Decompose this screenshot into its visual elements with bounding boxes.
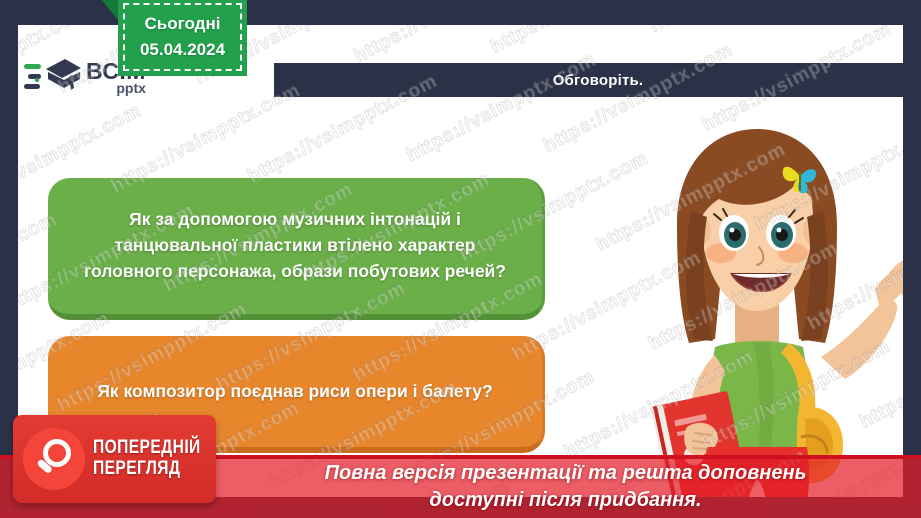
date-badge: Сьогодні 05.04.2024 [118,0,247,76]
preview-badge-line-1: ПОПЕРЕДНІЙ [93,438,201,459]
preview-badge-line-2: ПЕРЕГЛЯД [93,459,201,480]
watermark-text: https://vsimpptx.com [350,25,546,67]
watermark-text: https://vsimpptx.com [646,25,842,37]
purchase-notice-line-2: доступні після придбання. [325,487,807,514]
graduation-cap-icon [24,55,82,99]
slide-frame: Як за допомогою музичних інтонацій і тан… [0,0,921,518]
question-box-1: Як за допомогою музичних інтонацій і тан… [48,178,545,320]
purchase-notice-text: Повна версія презентації та решта доповн… [325,460,807,514]
date-badge-date: 05.04.2024 [140,37,225,63]
badge-fold-corner [100,0,118,20]
magnifier-icon [23,428,85,490]
preview-badge[interactable]: ПОПЕРЕДНІЙ ПЕРЕГЛЯД [13,415,216,503]
schoolgirl-with-book-character [603,107,903,497]
purchase-notice-line-1: Повна версія презентації та решта доповн… [325,460,807,487]
page-title: Обговоріть. [553,72,644,89]
question-1-text: Як за допомогою музичних інтонацій і тан… [70,207,520,284]
header-bar: Обговоріть. [274,63,903,97]
date-badge-label: Сьогодні [145,11,221,37]
watermark-text: https://vsimpptx.com [487,25,683,58]
preview-badge-label: ПОПЕРЕДНІЙ ПЕРЕГЛЯД [93,438,201,479]
question-2-text: Як композитор поєднав риси опери і балет… [97,379,492,405]
